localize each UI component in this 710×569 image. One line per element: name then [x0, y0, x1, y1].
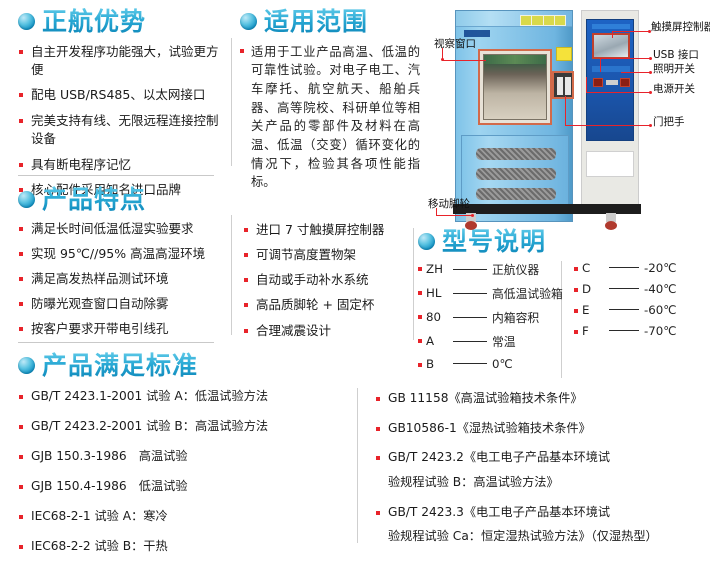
- list-item: GB/T 2423.1-2001 试验 A：低温试验方法: [18, 388, 318, 406]
- list-item: 完美支持有线、无限远程连接控制设备: [18, 112, 230, 148]
- list-item: 高品质脚轮 + 固定杯: [243, 296, 413, 314]
- callout-dot: [441, 58, 444, 61]
- standard-line-cont: 验规程试验 Ca：恒定湿热试验方法》（仅湿热型）: [388, 528, 695, 546]
- list-item: 进口 7 寸触摸屏控制器: [243, 221, 413, 239]
- standard-line: GB/T 2423.2《电工电子产品基本环境试: [388, 450, 610, 464]
- section-title: 正航优势: [42, 8, 146, 36]
- legend-row: ZH 正航仪器: [418, 261, 561, 278]
- callout-label-door-handle: 门把手: [653, 114, 685, 129]
- divider-vertical: [357, 388, 358, 543]
- legend-dash-icon: [453, 341, 487, 342]
- window-glass: [483, 54, 547, 120]
- callout-leader-line: [436, 208, 437, 215]
- legend-dash-icon: [609, 330, 639, 331]
- section-title: 型号说明: [442, 228, 546, 256]
- legend-row: A 常温: [418, 333, 561, 350]
- legend-dash-icon: [609, 267, 639, 268]
- legend-dash-icon: [453, 363, 487, 364]
- panel-header-strip: [592, 24, 630, 29]
- control-panel-column: [581, 10, 639, 206]
- list-item: GB10586-1《湿热试验箱技术条件》: [375, 420, 695, 438]
- divider-vertical: [231, 215, 232, 335]
- list-item: 自主开发程序功能强大，试验更方便: [18, 43, 230, 79]
- legend-dash-icon: [609, 288, 639, 289]
- section-title: 产品特点: [42, 186, 146, 214]
- section-title: 适用范围: [264, 8, 368, 36]
- callout-leader-line: [586, 77, 587, 92]
- observation-window: [478, 49, 552, 125]
- callout-leader-line: [600, 58, 650, 59]
- callout-label-usb: USB 接口: [653, 47, 699, 62]
- standard-line: GB 11158《高温试验箱技术条件》: [388, 391, 583, 405]
- caster-wheel: [605, 213, 617, 230]
- legend-value: 0℃: [492, 357, 513, 371]
- bullet-orb-icon: [18, 357, 35, 374]
- callout-dot: [649, 57, 652, 60]
- list-item: 配电 USB/RS485、以太网接口: [18, 86, 230, 104]
- list-item: 实现 95℃//95% 高温高湿环境: [18, 245, 218, 263]
- vent-grille-icon: [520, 15, 566, 26]
- list-item: GB/T 2423.2《电工电子产品基本环境试 验规程试验 B：高温试验方法》: [375, 449, 695, 491]
- legend-row: 80 内箱容积: [418, 309, 561, 326]
- section-model-legend: 型号说明 ZH 正航仪器 HL 高低温试验箱 80 内箱容积: [418, 228, 704, 378]
- legend-value: -60℃: [644, 303, 677, 317]
- callout-label-caster: 移动脚轮: [428, 196, 470, 211]
- legend-code: 80: [426, 310, 448, 324]
- list-item: 满足长时间低温低湿实验要求: [18, 220, 218, 238]
- legend-dash-icon: [453, 293, 487, 294]
- standard-line-cont: 验规程试验 B：高温试验方法》: [388, 474, 695, 492]
- legend-value: 正航仪器: [492, 261, 539, 278]
- light-switch-button[interactable]: [620, 78, 630, 87]
- door-handle-assembly: [552, 71, 574, 99]
- legend-row: B 0℃: [418, 357, 561, 371]
- divider-vertical: [231, 38, 232, 166]
- callout-leader-line: [612, 31, 650, 32]
- list-item: 自动或手动补水系统: [243, 271, 413, 289]
- standard-line: GB/T 2423.3《电工电子产品基本环境试: [388, 505, 610, 519]
- callout-leader-line: [586, 92, 650, 93]
- list-item: GB 11158《高温试验箱技术条件》: [375, 390, 695, 408]
- standards-list-right: GB 11158《高温试验箱技术条件》 GB10586-1《湿热试验箱技术条件》…: [375, 390, 695, 546]
- section-standards: 产品满足标准 GB/T 2423.1-2001 试验 A：低温试验方法 GB/T…: [18, 352, 318, 569]
- legend-value: 内箱容积: [492, 309, 539, 326]
- air-grille-icon: [476, 148, 556, 160]
- standards-column-right: GB 11158《高温试验箱技术条件》 GB10586-1《湿热试验箱技术条件》…: [375, 390, 695, 558]
- list-item: 防曝光观查窗口自动除雾: [18, 295, 218, 313]
- legend-dash-icon: [609, 309, 639, 310]
- callout-leader-line: [612, 31, 613, 38]
- legend-row: E -60℃: [574, 303, 704, 317]
- legend-code: D: [582, 282, 604, 296]
- legend-value: -20℃: [644, 261, 677, 275]
- scope-paragraph: 适用于工业产品高温、低温的可靠性试验。对电子电工、汽车摩托、航空航天、船舶兵器、…: [240, 43, 420, 193]
- callout-label-touchscreen: 触摸屏控制器: [651, 19, 710, 34]
- standard-line: GB10586-1《湿热试验箱技术条件》: [388, 421, 591, 435]
- callout-leader-line: [442, 60, 486, 61]
- panel-lower-box: [586, 151, 634, 177]
- legend-code: HL: [426, 286, 448, 300]
- callout-dot: [649, 71, 652, 74]
- legend-code: E: [582, 303, 604, 317]
- callout-dot: [648, 30, 651, 33]
- callout-dot: [471, 214, 474, 217]
- legend-value: -40℃: [644, 282, 677, 296]
- list-item: GB/T 2423.3《电工电子产品基本环境试 验规程试验 Ca：恒定湿热试验方…: [375, 504, 695, 546]
- bullet-orb-icon: [240, 13, 257, 30]
- legend-code: A: [426, 334, 448, 348]
- callout-dot: [649, 91, 652, 94]
- list-item: 可调节高度置物架: [243, 246, 413, 264]
- bullet-orb-icon: [18, 13, 35, 30]
- section-features: 产品特点 满足长时间低温低湿实验要求 实现 95℃//95% 高温高湿环境 满足…: [18, 186, 218, 345]
- divider-horizontal: [18, 175, 214, 176]
- section-scope: 适用范围 适用于工业产品高温、低温的可靠性试验。对电子电工、汽车摩托、航空航天、…: [240, 8, 420, 192]
- callout-label-window: 视察窗口: [434, 36, 476, 51]
- warning-label: [556, 47, 572, 61]
- legend-row: C -20℃: [574, 261, 704, 275]
- divider-horizontal: [18, 342, 214, 343]
- callout-leader-line: [565, 125, 650, 126]
- features-list-left: 满足长时间低温低湿实验要求 实现 95℃//95% 高温高湿环境 满足高发热样品…: [18, 220, 218, 339]
- legend-row: F -70℃: [574, 324, 704, 338]
- legend-code: B: [426, 357, 448, 371]
- section-heading-standards: 产品满足标准: [18, 352, 318, 380]
- callout-leader-line: [600, 58, 601, 72]
- section-heading-scope: 适用范围: [240, 8, 420, 36]
- callout-label-power-switch: 电源开关: [653, 81, 695, 96]
- infographic-page: 正航优势 自主开发程序功能强大，试验更方便 配电 USB/RS485、以太网接口…: [0, 0, 710, 556]
- touchscreen-display: [592, 33, 630, 59]
- legend-code: F: [582, 324, 604, 338]
- list-item: GB/T 2423.2-2001 试验 B：高温试验方法: [18, 418, 318, 436]
- callout-leader-line: [565, 96, 566, 125]
- power-switch-button[interactable]: [593, 78, 603, 87]
- window-top-bar: [484, 55, 546, 64]
- bullet-orb-icon: [418, 233, 435, 250]
- control-panel: [586, 19, 634, 141]
- legend-value: 高低温试验箱: [492, 285, 563, 302]
- model-legend-column-right: C -20℃ D -40℃ E -60℃ F -70℃: [561, 261, 704, 378]
- section-title: 产品满足标准: [42, 352, 198, 380]
- legend-value: -70℃: [644, 324, 677, 338]
- model-legend-column-left: ZH 正航仪器 HL 高低温试验箱 80 内箱容积 A 常温: [418, 261, 561, 378]
- list-item: 具有断电程序记忆: [18, 156, 230, 174]
- callout-dot: [649, 124, 652, 127]
- list-item: 按客户要求开带电引线孔: [18, 320, 218, 338]
- legend-row: D -40℃: [574, 282, 704, 296]
- usb-port: [606, 80, 618, 85]
- list-item: GJB 150.4-1986 低温试验: [18, 478, 318, 496]
- callout-leader-line: [436, 215, 473, 216]
- legend-code: ZH: [426, 262, 448, 276]
- bullet-orb-icon: [18, 191, 35, 208]
- list-item: 合理减震设计: [243, 322, 413, 340]
- legend-dash-icon: [453, 269, 487, 270]
- standards-list-left: GB/T 2423.1-2001 试验 A：低温试验方法 GB/T 2423.2…: [18, 388, 318, 557]
- features-column-right: 进口 7 寸触摸屏控制器 可调节高度置物架 自动或手动补水系统 高品质脚轮 + …: [243, 221, 413, 347]
- lower-door-panel: [461, 135, 569, 213]
- air-grille-icon: [476, 168, 556, 180]
- product-photo: [455, 4, 645, 228]
- divider-vertical: [413, 228, 414, 340]
- legend-code: C: [582, 261, 604, 275]
- legend-value: 常温: [492, 333, 516, 350]
- air-grille-icon: [476, 188, 556, 200]
- callout-leader-line: [621, 72, 650, 73]
- section-heading-features: 产品特点: [18, 186, 218, 214]
- list-item: IEC68-2-2 试验 B：干热: [18, 538, 318, 556]
- section-heading-model: 型号说明: [418, 228, 704, 256]
- features-list-right: 进口 7 寸触摸屏控制器 可调节高度置物架 自动或手动补水系统 高品质脚轮 + …: [243, 221, 413, 340]
- list-item: GJB 150.3-1986 高温试验: [18, 448, 318, 466]
- section-advantages: 正航优势 自主开发程序功能强大，试验更方便 配电 USB/RS485、以太网接口…: [18, 8, 230, 207]
- list-item: IEC68-2-1 试验 A：寒冷: [18, 508, 318, 526]
- section-heading-advantages: 正航优势: [18, 8, 230, 36]
- legend-dash-icon: [453, 317, 487, 318]
- callout-label-light-switch: 照明开关: [653, 61, 695, 76]
- list-item: 满足高发热样品测试环境: [18, 270, 218, 288]
- legend-row: HL 高低温试验箱: [418, 285, 561, 302]
